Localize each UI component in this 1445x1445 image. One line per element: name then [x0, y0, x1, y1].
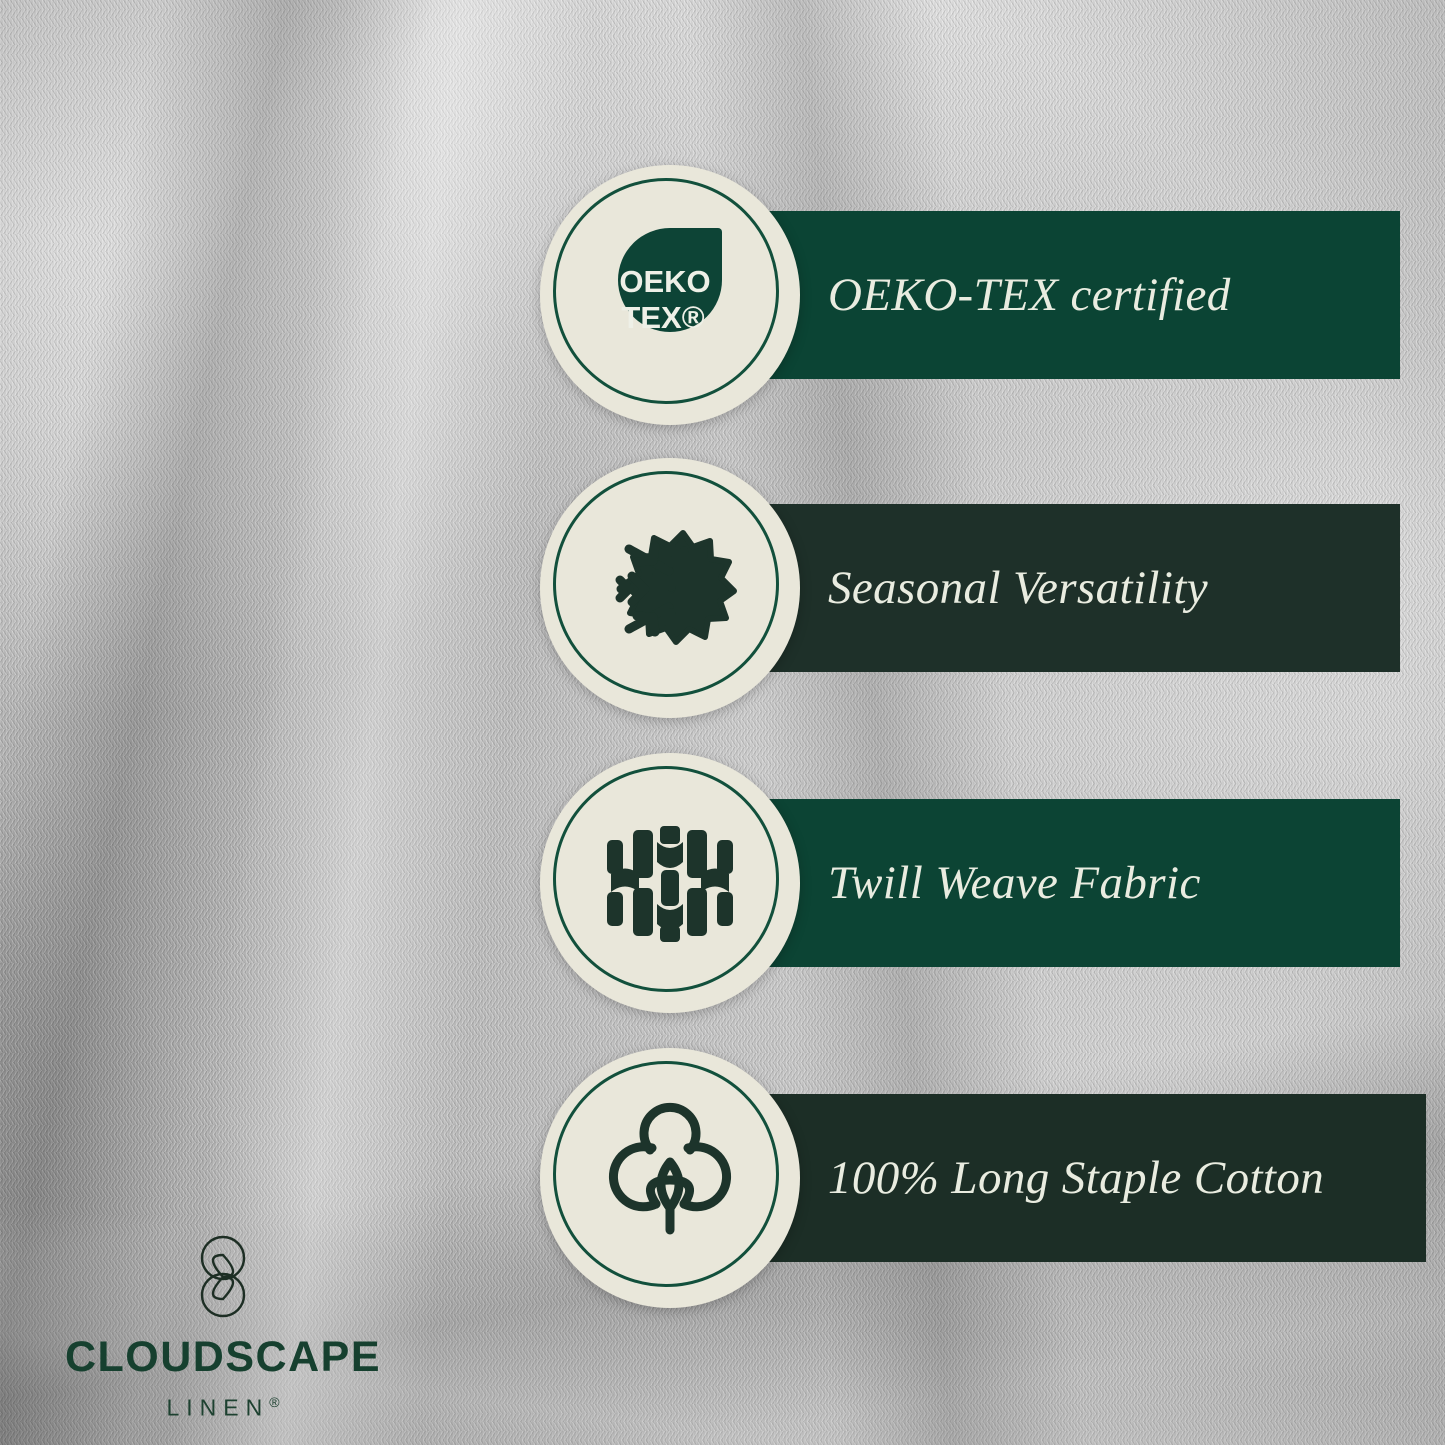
twill-weave-icon: [595, 808, 745, 958]
feature-badge: [540, 458, 800, 718]
feature-bar: Twill Weave Fabric: [700, 799, 1400, 967]
cotton-boll-icon: [594, 1102, 746, 1254]
oeko-badge-line2: TEX®: [621, 300, 704, 335]
brand-trademark: ®: [269, 1394, 279, 1410]
brand-lockup: CLOUDSCAPE LINEN®: [58, 1232, 388, 1421]
quatrefoil-logo-icon: [186, 1232, 260, 1322]
oeko-tex-droplet-icon: OEKO TEX®: [595, 220, 745, 370]
feature-badge: [540, 753, 800, 1013]
brand-sub: LINEN®: [166, 1395, 279, 1420]
brand-sub-text: LINEN: [166, 1395, 269, 1421]
brand-mark: [58, 1232, 388, 1322]
oeko-badge-line1: OEKO: [619, 264, 710, 299]
feature-bar: Seasonal Versatility: [700, 504, 1400, 672]
infographic-canvas: OEKO-TEX certified OEKO TEX® Seasonal Ve…: [0, 0, 1445, 1445]
feature-bar: OEKO-TEX certified: [700, 211, 1400, 379]
feature-badge: [540, 1048, 800, 1308]
snowflake-sun-icon: [595, 513, 745, 663]
brand-name: CLOUDSCAPE: [58, 1336, 388, 1379]
feature-bar: 100% Long Staple Cotton: [700, 1094, 1426, 1262]
feature-list: OEKO-TEX certified OEKO TEX® Seasonal Ve…: [0, 0, 1445, 1445]
feature-badge: OEKO TEX®: [540, 165, 800, 425]
